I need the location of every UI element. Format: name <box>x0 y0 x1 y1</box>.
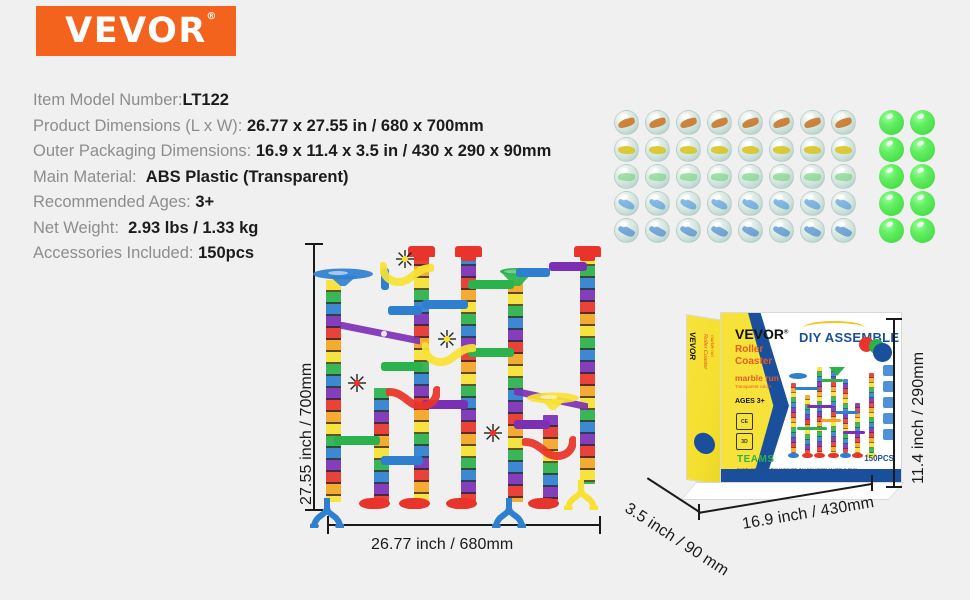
tube-segment <box>580 314 595 326</box>
tube-segment <box>461 470 476 482</box>
catch-tray <box>312 268 374 293</box>
tube-segment <box>580 350 595 362</box>
glass-marble <box>831 191 856 216</box>
tube-segment <box>580 290 595 302</box>
package-headline-swoosh-icon <box>803 321 865 335</box>
spec-label: Main Material: <box>33 168 137 186</box>
product-width-label: 26.77 inch / 680mm <box>371 536 513 554</box>
glow-marble <box>910 164 935 189</box>
glass-marble <box>614 110 639 135</box>
spec-label: Product Dimensions (L x W): <box>33 117 242 135</box>
glass-marble <box>676 110 701 135</box>
spec-row: Outer Packaging Dimensions: 16.9 x 11.4 … <box>33 139 613 165</box>
spec-value: 2.93 lbs / 1.33 kg <box>128 219 258 237</box>
tube-segment <box>461 314 476 326</box>
forked-base-foot <box>564 480 598 510</box>
glass-marble <box>738 137 763 162</box>
glow-marble <box>879 164 904 189</box>
package-tower-foot <box>788 453 799 458</box>
glass-marble <box>738 218 763 243</box>
tube-segment <box>508 318 523 330</box>
tube-segment <box>508 486 523 498</box>
tube-segment <box>326 340 341 352</box>
glass-marble <box>676 137 701 162</box>
tube-segment <box>461 410 476 422</box>
tube-segment <box>326 460 341 472</box>
package-product-line-3: marble run <box>735 374 779 383</box>
tube-segment <box>461 482 476 494</box>
tube-segment <box>414 422 429 434</box>
spec-row: Recommended Ages: 3+ <box>33 190 613 216</box>
spec-row: Net Weight: 2.93 lbs / 1.33 kg <box>33 216 613 242</box>
tube-segment <box>326 328 341 340</box>
marble-row <box>614 164 944 191</box>
package-side-line1: Roller Coaster <box>701 333 707 369</box>
package-product-line-2: Coaster <box>735 357 772 368</box>
package-tower-funnel <box>829 367 845 376</box>
glass-marble <box>831 164 856 189</box>
package-brand: VEVOR® <box>735 327 788 342</box>
glass-marble <box>831 137 856 162</box>
spec-value: LT122 <box>182 91 228 109</box>
spinner-wheel-icon <box>436 328 458 350</box>
spec-label: Accessories Included: <box>33 244 194 262</box>
glass-marble <box>769 137 794 162</box>
sloped-rail <box>340 322 420 346</box>
horizontal-connector <box>549 262 587 271</box>
spec-value: 3+ <box>195 193 214 211</box>
marble-row <box>614 218 944 245</box>
horizontal-connector <box>381 456 423 465</box>
tube-segment <box>326 472 341 484</box>
tube-segment <box>326 352 341 364</box>
package-tower-illustration <box>787 353 882 463</box>
glass-marble <box>676 164 701 189</box>
glass-marble <box>769 110 794 135</box>
horizontal-connector <box>381 362 423 371</box>
horizontal-connector <box>334 436 380 445</box>
tube-segment <box>461 374 476 386</box>
glass-marble <box>614 164 639 189</box>
spec-label: Recommended Ages: <box>33 193 191 211</box>
package-tower-foot <box>852 453 863 458</box>
registered-mark-icon: ® <box>206 12 218 22</box>
marble-row <box>614 191 944 218</box>
package-side-brand: VEVOR <box>688 331 696 360</box>
package-tower-foot <box>828 453 839 458</box>
glass-marble <box>800 137 825 162</box>
tube-segment <box>374 484 389 496</box>
package-ages: AGES 3+ <box>735 398 765 405</box>
package-tower-foot <box>802 453 813 458</box>
glass-marble <box>769 191 794 216</box>
tube-segment <box>374 424 389 436</box>
tube-segment <box>461 386 476 398</box>
tube-segment <box>580 338 595 350</box>
spec-label: Net Weight: <box>33 219 119 237</box>
glass-marble <box>831 218 856 243</box>
horizontal-connector <box>388 306 422 315</box>
package-teams-logo: TEAMS <box>737 455 775 466</box>
spec-row: Item Model Number:LT122 <box>33 88 613 114</box>
tube-segment <box>580 362 595 374</box>
spec-value: 150pcs <box>198 244 254 262</box>
round-base-foot <box>528 498 559 509</box>
spec-value: 16.9 x 11.4 x 3.5 in / 430 x 290 x 90mm <box>256 142 551 160</box>
glass-marble <box>769 218 794 243</box>
package-side-line2: marble run <box>709 335 714 357</box>
tube-segment <box>326 448 341 460</box>
glow-marble <box>879 191 904 216</box>
marble-row <box>614 110 944 137</box>
package-side-seal-icon <box>694 431 715 455</box>
tube-segment <box>580 458 595 470</box>
package-tower-column <box>869 373 874 453</box>
package-product-line-4: Transparent colors <box>735 385 771 390</box>
package-piece-count: 150PCS <box>864 455 894 463</box>
glass-marble <box>800 110 825 135</box>
spec-value: 26.77 x 27.55 in / 680 x 700mm <box>247 117 484 135</box>
glass-marble <box>645 137 670 162</box>
tube-segment <box>461 266 476 278</box>
tube-segment <box>326 292 341 304</box>
glow-marble <box>910 218 935 243</box>
package-tower-connector <box>821 419 841 422</box>
glass-marble <box>738 110 763 135</box>
package-side-panel: VEVOR Roller Coaster marble run <box>686 314 724 486</box>
tube-segment <box>414 470 429 482</box>
tube-segment <box>580 278 595 290</box>
package-product-line-1: Roller <box>735 345 763 356</box>
glass-marble <box>707 218 732 243</box>
spec-row: Product Dimensions (L x W): 26.77 x 27.5… <box>33 114 613 140</box>
round-base-foot <box>446 498 477 509</box>
tube-segment <box>508 306 523 318</box>
forked-base-foot <box>492 498 526 528</box>
round-base-foot <box>359 498 390 509</box>
round-base-foot <box>399 498 430 509</box>
package-tower-column <box>843 379 848 453</box>
glow-marble <box>879 218 904 243</box>
marble-run-tower <box>318 240 608 515</box>
glass-marble <box>738 164 763 189</box>
spinner-wheel-icon <box>394 248 416 270</box>
tube-segment <box>580 446 595 458</box>
glass-marble <box>800 218 825 243</box>
package-tower-foot <box>814 453 825 458</box>
package-tower-connector <box>843 431 865 434</box>
catch-tray <box>526 392 580 417</box>
spec-label: Item Model Number: <box>33 91 182 109</box>
glass-marble <box>738 191 763 216</box>
package-tower-column <box>791 383 796 453</box>
tube-segment <box>580 302 595 314</box>
package-tower-connector <box>807 405 833 408</box>
package-tower-connector <box>797 427 827 430</box>
glass-marble <box>614 218 639 243</box>
vevor-logo: VEVOR® <box>36 6 236 56</box>
spec-value: ABS Plastic (Transparent) <box>146 168 349 186</box>
spec-label: Outer Packaging Dimensions: <box>33 142 251 160</box>
package-feature-badges-icon <box>859 337 893 363</box>
tube-top-cap <box>455 246 482 257</box>
product-spec-page: VEVOR® Item Model Number:LT122 Product D… <box>0 0 970 600</box>
package-ce-badge-icon: CE <box>736 413 753 430</box>
glass-marble <box>800 164 825 189</box>
tube-segment <box>414 482 429 494</box>
tube-segment <box>374 472 389 484</box>
glass-marble <box>800 191 825 216</box>
package-depth-label: 3.5 inch / 90 mm <box>621 500 731 580</box>
horizontal-connector <box>514 420 550 429</box>
package-height-label: 11.4 inch / 290mm <box>910 352 928 484</box>
glass-marble <box>614 191 639 216</box>
logo-wordmark: VEVOR® <box>65 14 207 49</box>
tube-top-cap <box>574 246 601 257</box>
tube-segment <box>326 484 341 496</box>
tube-segment <box>508 330 523 342</box>
package-tower-foot <box>840 453 851 458</box>
forked-base-foot <box>310 498 344 528</box>
glass-marble <box>707 137 732 162</box>
package-3d-badge-icon: 3D <box>736 433 753 450</box>
tube-segment <box>508 474 523 486</box>
tube-segment <box>580 326 595 338</box>
tube-segment <box>543 463 558 475</box>
spec-row: Main Material: ABS Plastic (Transparent) <box>33 165 613 191</box>
tube-segment <box>508 366 523 378</box>
glass-marble <box>645 191 670 216</box>
horizontal-connector <box>468 280 514 289</box>
glass-marble <box>707 191 732 216</box>
glow-marble <box>879 137 904 162</box>
glass-marble <box>645 218 670 243</box>
glass-marble <box>707 110 732 135</box>
package-front-panel: VEVOR® Roller Coaster marble run Transpa… <box>720 312 902 486</box>
glow-marble <box>910 191 935 216</box>
glass-marble <box>769 164 794 189</box>
package-tower-connector <box>835 411 859 414</box>
glass-marble <box>645 164 670 189</box>
tube-segment <box>326 316 341 328</box>
package-tower-connector <box>795 387 819 390</box>
tube-segment <box>580 434 595 446</box>
glass-marble <box>614 137 639 162</box>
tube-segment <box>580 374 595 386</box>
glass-marble <box>676 218 701 243</box>
glass-marble <box>831 110 856 135</box>
marble-row <box>614 137 944 164</box>
tube-segment <box>326 304 341 316</box>
glass-marble <box>676 191 701 216</box>
tube-segment <box>326 424 341 436</box>
tube-segment <box>580 422 595 434</box>
tube-segment <box>508 294 523 306</box>
spinner-wheel-icon <box>482 422 504 444</box>
package-tower-column <box>805 395 810 453</box>
glass-marble <box>645 110 670 135</box>
package-tower-tray <box>789 373 807 379</box>
glow-marble <box>879 110 904 135</box>
tube-segment <box>543 475 558 487</box>
tube-segment <box>326 364 341 376</box>
glow-marble <box>910 110 935 135</box>
glass-marble <box>707 164 732 189</box>
horizontal-connector <box>516 268 550 277</box>
horizontal-connector <box>422 300 468 309</box>
tower-column <box>580 254 595 484</box>
product-height-label: 27.55 inch / 700mm <box>298 363 316 505</box>
tube-segment <box>414 434 429 446</box>
glow-marble <box>910 137 935 162</box>
package-tower-connector <box>821 379 843 382</box>
spinner-wheel-icon <box>346 372 368 394</box>
